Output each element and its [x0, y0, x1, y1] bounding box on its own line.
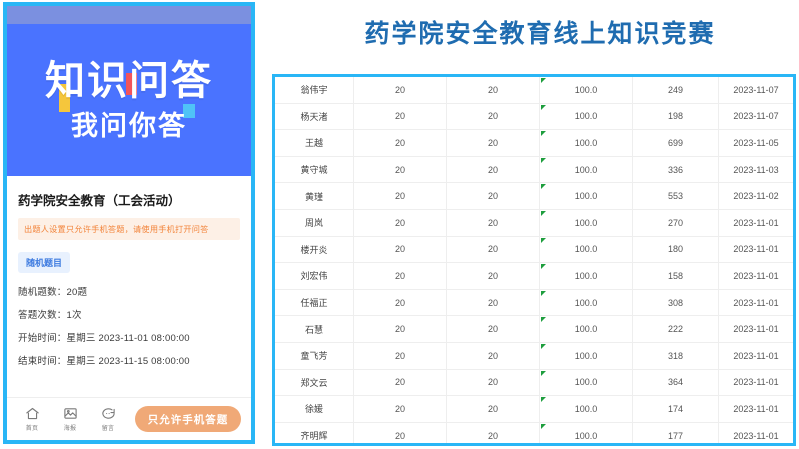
cell-name[interactable]: 童飞芳: [275, 342, 354, 369]
nav-item-poster[interactable]: 海报: [53, 406, 87, 432]
phone-bottom-nav: 首页 海报: [7, 398, 251, 440]
cell-total[interactable]: 20: [354, 289, 447, 316]
answer-button[interactable]: 只允许手机答题: [135, 406, 241, 432]
cell-time[interactable]: 364: [633, 369, 719, 396]
table-row[interactable]: 黄瑾2020100.05532023-11-02: [275, 183, 793, 210]
cell-time[interactable]: 177: [633, 422, 719, 446]
nav-item-message[interactable]: 留言: [91, 406, 125, 432]
cell-score[interactable]: 100.0: [540, 289, 633, 316]
cell-date[interactable]: 2023-11-01: [719, 396, 794, 423]
cell-time[interactable]: 308: [633, 289, 719, 316]
phone-preview-panel: 知识问答 我问你答 药学院安全教育（工会活动） 出题人设置只允许手机答题，请使用…: [3, 2, 255, 444]
table-row[interactable]: 任福正2020100.03082023-11-01: [275, 289, 793, 316]
cell-name[interactable]: 黄瑾: [275, 183, 354, 210]
cell-total[interactable]: 20: [354, 342, 447, 369]
cell-time[interactable]: 198: [633, 103, 719, 130]
table-row[interactable]: 翁伟宇2020100.02492023-11-07: [275, 77, 793, 103]
cell-score[interactable]: 100.0: [540, 316, 633, 343]
detail-label: 结束时间：: [18, 356, 67, 367]
detail-value: 1次: [67, 310, 82, 321]
cell-total[interactable]: 20: [354, 103, 447, 130]
cell-time[interactable]: 158: [633, 263, 719, 290]
cell-correct[interactable]: 20: [447, 342, 540, 369]
table-row[interactable]: 周岚2020100.02702023-11-01: [275, 209, 793, 236]
cell-date[interactable]: 2023-11-01: [719, 342, 794, 369]
results-table: 翁伟宇2020100.02492023-11-07杨天渚2020100.0198…: [275, 77, 793, 446]
table-row[interactable]: 徐媛2020100.01742023-11-01: [275, 396, 793, 423]
cell-time[interactable]: 180: [633, 236, 719, 263]
cell-name[interactable]: 王越: [275, 130, 354, 157]
cell-correct[interactable]: 20: [447, 289, 540, 316]
cell-correct[interactable]: 20: [447, 396, 540, 423]
cell-name[interactable]: 周岚: [275, 209, 354, 236]
cell-name[interactable]: 郑文云: [275, 369, 354, 396]
cell-correct[interactable]: 20: [447, 130, 540, 157]
cell-date[interactable]: 2023-11-01: [719, 236, 794, 263]
cell-date[interactable]: 2023-11-01: [719, 316, 794, 343]
cell-total[interactable]: 20: [354, 236, 447, 263]
cell-score[interactable]: 100.0: [540, 103, 633, 130]
cell-correct[interactable]: 20: [447, 77, 540, 103]
table-row[interactable]: 石慧2020100.02222023-11-01: [275, 316, 793, 343]
nav-label-home: 首页: [26, 423, 39, 432]
cell-name[interactable]: 黄守城: [275, 156, 354, 183]
cell-date[interactable]: 2023-11-07: [719, 77, 794, 103]
detail-row-end-time: 结束时间：星期三 2023-11-15 08:00:00: [18, 353, 240, 367]
cell-name[interactable]: 徐媛: [275, 396, 354, 423]
detail-label: 开始时间：: [18, 333, 67, 344]
cell-date[interactable]: 2023-11-02: [719, 183, 794, 210]
cell-score[interactable]: 100.0: [540, 369, 633, 396]
cell-total[interactable]: 20: [354, 396, 447, 423]
cell-total[interactable]: 20: [354, 183, 447, 210]
table-row[interactable]: 齐明辉2020100.01772023-11-01: [275, 422, 793, 446]
cell-score[interactable]: 100.0: [540, 263, 633, 290]
cell-correct[interactable]: 20: [447, 263, 540, 290]
cell-date[interactable]: 2023-11-01: [719, 263, 794, 290]
detail-row-attempts: 答题次数：1次: [18, 307, 240, 321]
cell-date[interactable]: 2023-11-07: [719, 103, 794, 130]
table-row[interactable]: 楼开炎2020100.01802023-11-01: [275, 236, 793, 263]
cell-total[interactable]: 20: [354, 369, 447, 396]
cell-time[interactable]: 553: [633, 183, 719, 210]
nav-label-message: 留言: [102, 423, 115, 432]
table-row[interactable]: 杨天渚2020100.01982023-11-07: [275, 103, 793, 130]
poster-image-icon: [63, 406, 78, 421]
cell-name[interactable]: 翁伟宇: [275, 77, 354, 103]
cell-total[interactable]: 20: [354, 130, 447, 157]
detail-label: 答题次数：: [18, 310, 67, 321]
cell-score[interactable]: 100.0: [540, 236, 633, 263]
cell-score[interactable]: 100.0: [540, 209, 633, 236]
nav-label-poster: 海报: [64, 423, 77, 432]
table-row[interactable]: 王越2020100.06992023-11-05: [275, 130, 793, 157]
cell-name[interactable]: 齐明辉: [275, 422, 354, 446]
cell-score[interactable]: 100.0: [540, 130, 633, 157]
detail-row-question-count: 随机题数：20题: [18, 284, 240, 298]
cell-date[interactable]: 2023-11-03: [719, 156, 794, 183]
home-icon: [25, 406, 40, 421]
cell-name[interactable]: 楼开炎: [275, 236, 354, 263]
cell-name[interactable]: 刘宏伟: [275, 263, 354, 290]
cell-total[interactable]: 20: [354, 422, 447, 446]
quiz-banner: 知识问答 我问你答: [7, 24, 251, 176]
cell-correct[interactable]: 20: [447, 316, 540, 343]
cell-score[interactable]: 100.0: [540, 77, 633, 103]
cell-correct[interactable]: 20: [447, 236, 540, 263]
cell-score[interactable]: 100.0: [540, 342, 633, 369]
cell-time[interactable]: 270: [633, 209, 719, 236]
cell-correct[interactable]: 20: [447, 422, 540, 446]
cell-correct[interactable]: 20: [447, 156, 540, 183]
cell-score[interactable]: 100.0: [540, 156, 633, 183]
cell-score[interactable]: 100.0: [540, 183, 633, 210]
cell-name[interactable]: 任福正: [275, 289, 354, 316]
phone-status-bar: [7, 6, 251, 24]
banner-title: 知识问答: [45, 61, 213, 101]
random-question-badge: 随机题目: [18, 252, 70, 273]
cell-total[interactable]: 20: [354, 263, 447, 290]
page-title: 药学院安全教育线上知识竞赛: [290, 14, 790, 50]
cell-correct[interactable]: 20: [447, 209, 540, 236]
cell-date[interactable]: 2023-11-01: [719, 369, 794, 396]
banner-subtitle: 我问你答: [71, 113, 187, 140]
cell-correct[interactable]: 20: [447, 183, 540, 210]
cell-correct[interactable]: 20: [447, 369, 540, 396]
table-row[interactable]: 童飞芳2020100.03182023-11-01: [275, 342, 793, 369]
cell-time[interactable]: 318: [633, 342, 719, 369]
results-table-container: 翁伟宇2020100.02492023-11-07杨天渚2020100.0198…: [272, 74, 796, 446]
cell-total[interactable]: 20: [354, 77, 447, 103]
cell-date[interactable]: 2023-11-01: [719, 422, 794, 446]
cell-score[interactable]: 100.0: [540, 422, 633, 446]
table-row[interactable]: 黄守城2020100.03362023-11-03: [275, 156, 793, 183]
cell-score[interactable]: 100.0: [540, 396, 633, 423]
cell-total[interactable]: 20: [354, 316, 447, 343]
comment-icon: [101, 406, 116, 421]
detail-row-start-time: 开始时间：星期三 2023-11-01 08:00:00: [18, 330, 240, 344]
cell-time[interactable]: 336: [633, 156, 719, 183]
quiz-title: 药学院安全教育（工会活动）: [18, 190, 240, 209]
cell-time[interactable]: 249: [633, 77, 719, 103]
cell-total[interactable]: 20: [354, 156, 447, 183]
nav-item-home[interactable]: 首页: [15, 406, 49, 432]
detail-label: 随机题数：: [18, 287, 67, 298]
cell-time[interactable]: 699: [633, 130, 719, 157]
cell-total[interactable]: 20: [354, 209, 447, 236]
cell-name[interactable]: 石慧: [275, 316, 354, 343]
detail-value: 星期三 2023-11-01 08:00:00: [67, 333, 190, 344]
cell-date[interactable]: 2023-11-01: [719, 209, 794, 236]
cell-name[interactable]: 杨天渚: [275, 103, 354, 130]
cell-date[interactable]: 2023-11-01: [719, 289, 794, 316]
table-row[interactable]: 郑文云2020100.03642023-11-01: [275, 369, 793, 396]
cell-date[interactable]: 2023-11-05: [719, 130, 794, 157]
detail-value: 星期三 2023-11-15 08:00:00: [67, 356, 190, 367]
cell-time[interactable]: 222: [633, 316, 719, 343]
cell-correct[interactable]: 20: [447, 103, 540, 130]
phone-content: 药学院安全教育（工会活动） 出题人设置只允许手机答题，请使用手机打开问答 随机题…: [7, 176, 251, 440]
notice-banner: 出题人设置只允许手机答题，请使用手机打开问答: [18, 218, 240, 240]
cell-time[interactable]: 174: [633, 396, 719, 423]
detail-value: 20题: [67, 287, 88, 298]
table-row[interactable]: 刘宏伟2020100.01582023-11-01: [275, 263, 793, 290]
